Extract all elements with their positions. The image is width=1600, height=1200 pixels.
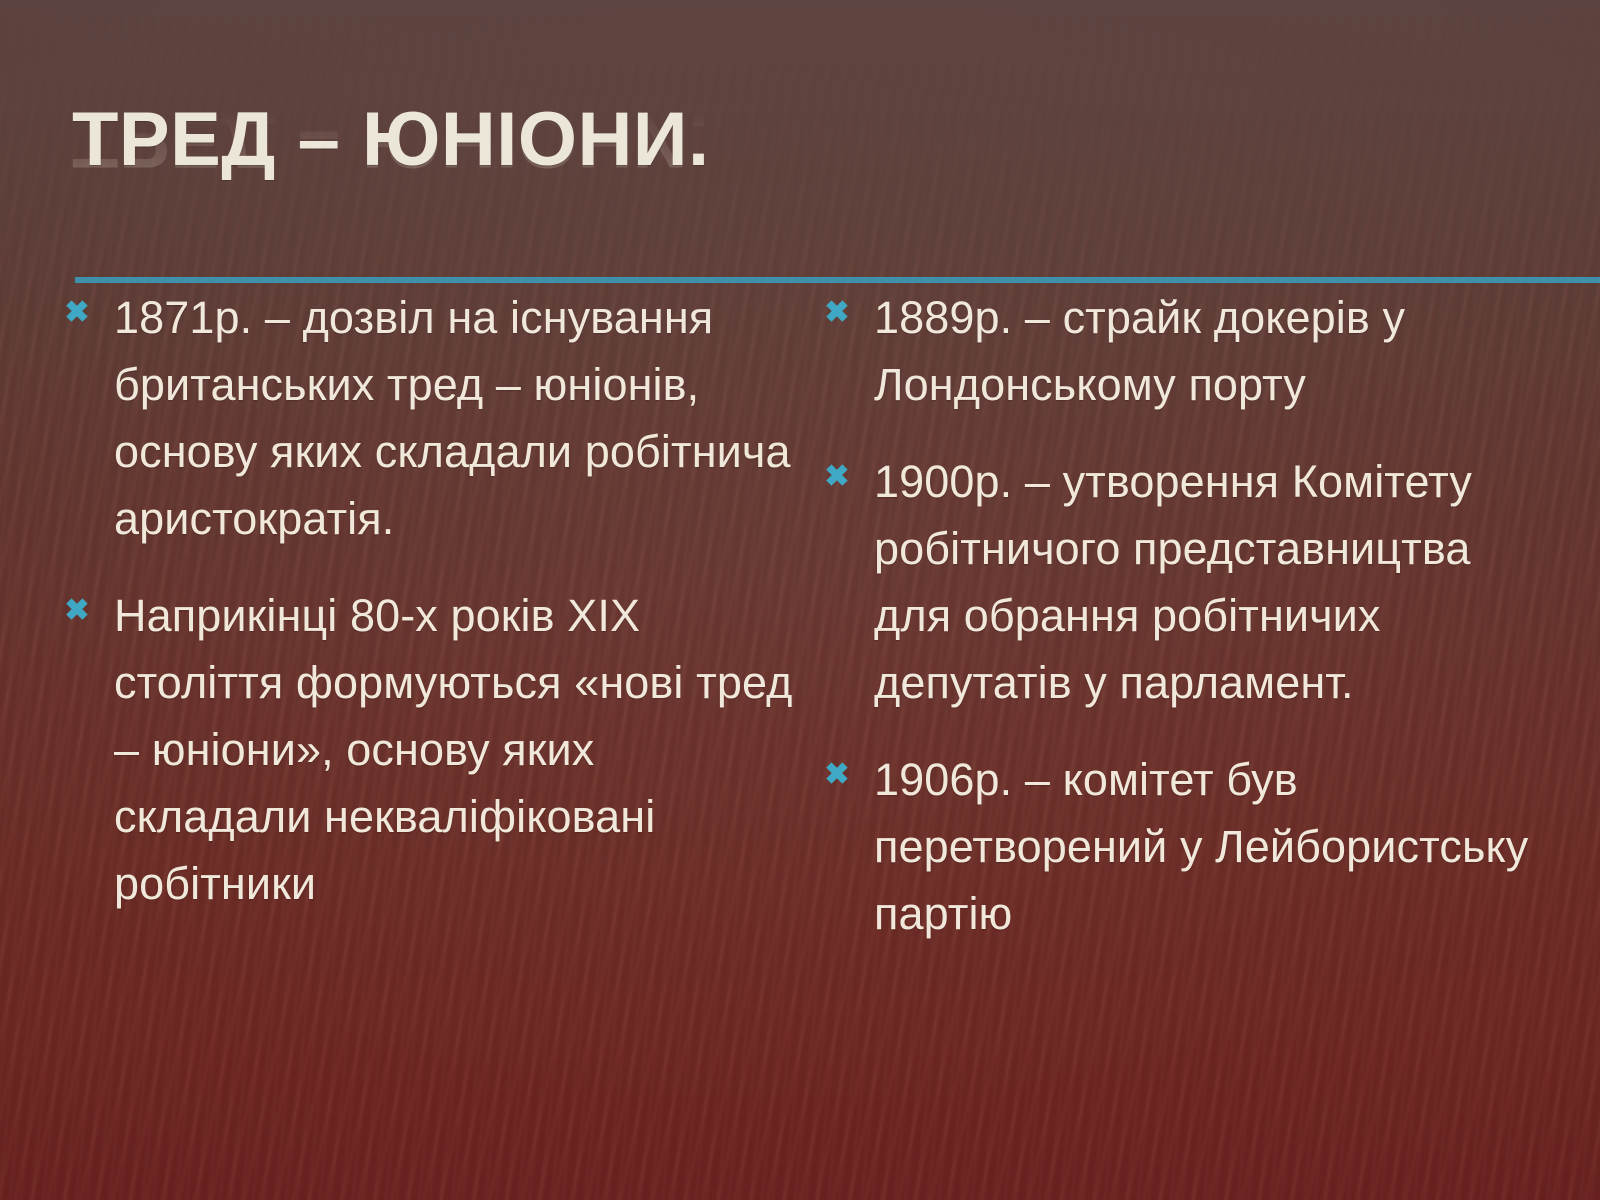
list-item-text: 1889р. – страйк докерів у Лондонському п… xyxy=(874,284,1544,418)
title-underline-rule xyxy=(75,277,1600,283)
cross-bullet-icon: ✖ xyxy=(820,760,854,790)
right-column: ✖ 1889р. – страйк докерів у Лондонському… xyxy=(820,284,1560,977)
left-column: ✖ 1871р. – дозвіл на існування британськ… xyxy=(60,284,820,977)
list-item-text: 1900р. – утворення Комітету робітничого … xyxy=(874,448,1544,716)
list-item: ✖ 1889р. – страйк докерів у Лондонському… xyxy=(820,284,1544,418)
list-item: ✖ 1900р. – утворення Комітету робітничог… xyxy=(820,448,1544,716)
list-item-text: 1871р. – дозвіл на існування британських… xyxy=(114,284,804,552)
list-item: ✖ 1906р. – комітет був перетворений у Ле… xyxy=(820,746,1544,947)
slide-content: ✖ 1871р. – дозвіл на існування британськ… xyxy=(0,284,1600,977)
cross-bullet-icon: ✖ xyxy=(820,462,854,492)
cross-bullet-icon: ✖ xyxy=(60,298,94,328)
list-item: ✖ Наприкінці 80-х років XIX століття фор… xyxy=(60,582,804,917)
list-item-text: Наприкінці 80-х років XIX століття форму… xyxy=(114,582,804,917)
presentation-slide: Тред – юніони. Тред – юніони. ✖ 1871р. –… xyxy=(0,0,1600,1200)
cross-bullet-icon: ✖ xyxy=(60,596,94,626)
list-item-text: 1906р. – комітет був перетворений у Лейб… xyxy=(874,746,1544,947)
slide-title-block: Тред – юніони. Тред – юніони. xyxy=(0,96,1600,246)
list-item: ✖ 1871р. – дозвіл на існування британськ… xyxy=(60,284,804,552)
cross-bullet-icon: ✖ xyxy=(820,298,854,328)
slide-title: Тред – юніони. xyxy=(72,96,710,184)
